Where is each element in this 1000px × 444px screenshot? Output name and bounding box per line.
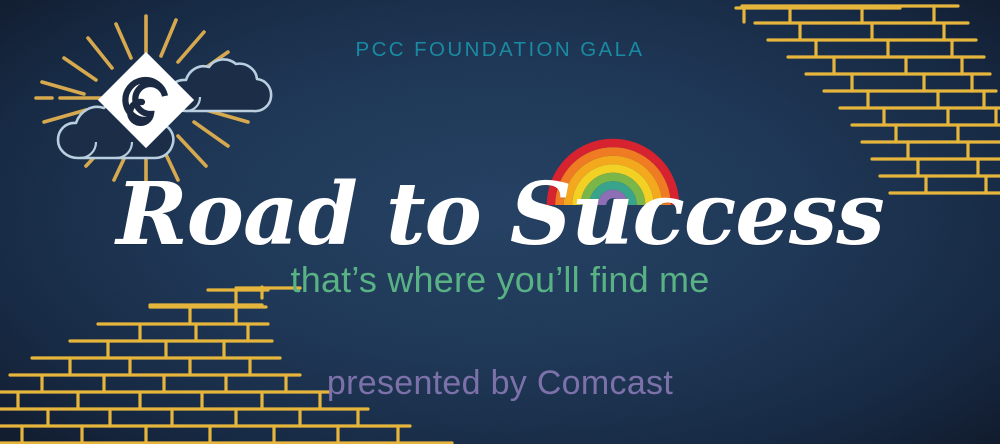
cloud-upper-right	[168, 59, 271, 111]
page-title: Road to Success	[0, 172, 1000, 258]
brick-road-upper-right-bend	[736, 8, 900, 22]
presenting-sponsor: presented by Comcast	[0, 364, 1000, 403]
pcc-diamond-logo	[98, 52, 194, 148]
cloud-lower-left	[58, 100, 173, 158]
event-kicker: PCC FOUNDATION GALA	[0, 38, 1000, 62]
gala-banner: PCC FOUNDATION GALA Road to Success that…	[0, 0, 1000, 444]
page-subtitle: that’s where you’ll find me	[0, 259, 1000, 301]
